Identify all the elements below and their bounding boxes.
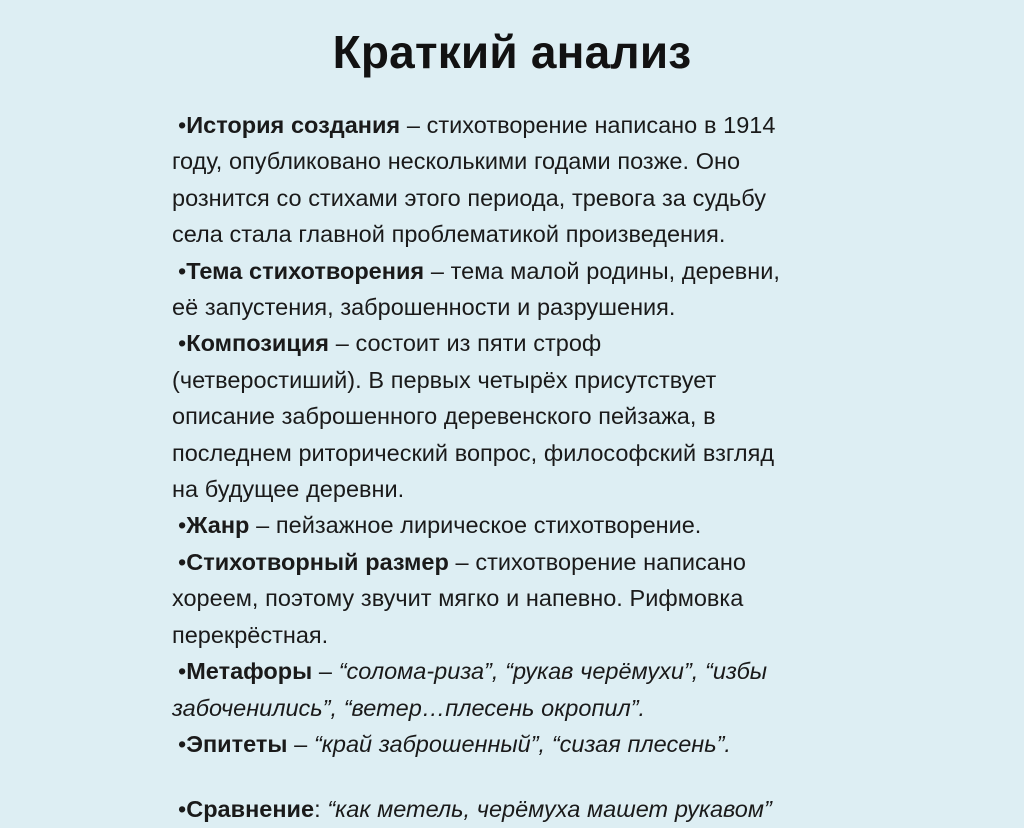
bullet-epitety: •Эпитеты – “край заброшенный”, “сизая пл… — [172, 726, 797, 762]
bullet-zhanr: •Жанр – пейзажное лирическое стихотворен… — [172, 507, 797, 543]
bullet-separator: – — [249, 512, 276, 538]
bullet-dot-icon: • — [178, 658, 186, 684]
bullet-separator: – — [287, 731, 314, 757]
bullet-dot-icon: • — [178, 731, 186, 757]
bullet-label: Эпитеты — [186, 731, 287, 757]
slide-canvas: Краткий анализ •История создания – стихо… — [0, 0, 1024, 767]
bullet-text: “край заброшенный”, “сизая плесень”. — [314, 731, 731, 757]
bullet-label: Стихотворный размер — [186, 549, 449, 575]
bullet-stihotvornyy-razmer: •Стихотворный размер – стихотворение нап… — [172, 544, 797, 653]
bullet-separator: : — [314, 796, 327, 822]
bullet-metafory: •Метафоры – “солома-риза”, “рукав черёму… — [172, 653, 797, 726]
page-title: Краткий анализ — [0, 26, 1024, 79]
bullet-dot-icon: • — [178, 258, 186, 284]
bullet-label: Сравнение — [186, 796, 314, 822]
bullet-tema-stihotvoreniya: •Тема стихотворения – тема малой родины,… — [172, 253, 797, 326]
analysis-bullet-list: •История создания – стихотворение написа… — [172, 107, 797, 828]
bullet-kompoziciya: •Композиция – состоит из пяти строф (чет… — [172, 325, 797, 507]
bullet-dot-icon: • — [178, 512, 186, 538]
bullet-label: Тема стихотворения — [186, 258, 424, 284]
bullet-dot-icon: • — [178, 549, 186, 575]
bullet-label: Метафоры — [186, 658, 312, 684]
bullet-separator: – — [329, 330, 356, 356]
bullet-istoriya-sozdaniya: •История создания – стихотворение написа… — [172, 107, 797, 253]
bullet-separator: – — [312, 658, 339, 684]
bullet-label: Композиция — [186, 330, 329, 356]
bullet-separator: – — [400, 112, 427, 138]
bullet-dot-icon: • — [178, 796, 186, 822]
bullet-separator: – — [449, 549, 476, 575]
bullet-dot-icon: • — [178, 330, 186, 356]
bullet-text: пейзажное лирическое стихотворение. — [276, 512, 701, 538]
bullet-sravnenie: •Сравнение: “как метель, черёмуха машет … — [172, 791, 797, 827]
bullet-label: Жанр — [186, 512, 249, 538]
bullet-separator: – — [424, 258, 451, 284]
bullet-text: “как метель, черёмуха машет рукавом” — [327, 796, 771, 822]
bullet-label: История создания — [186, 112, 400, 138]
bullet-dot-icon: • — [178, 112, 186, 138]
